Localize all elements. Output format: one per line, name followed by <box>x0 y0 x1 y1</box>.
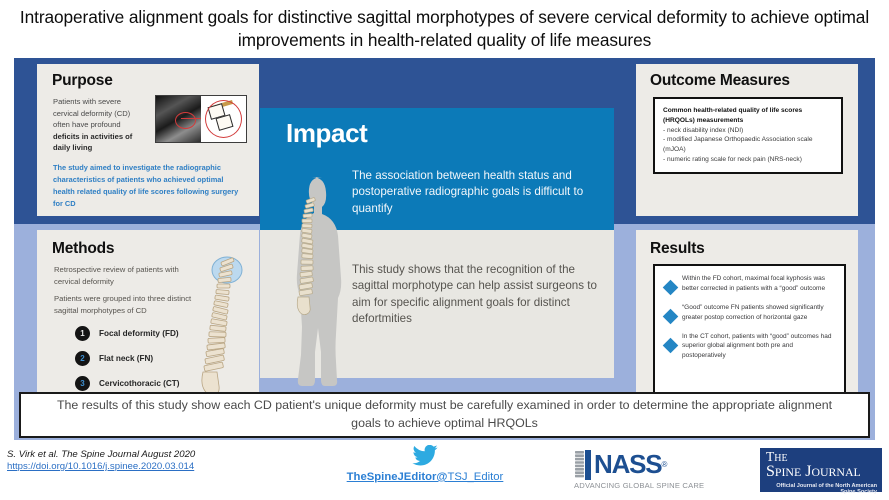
methods-heading: Methods <box>52 240 114 258</box>
outcome-item: - neck disability index (NDI) <box>663 126 833 136</box>
purpose-body-bold: deficits in activities of daily living <box>53 132 132 153</box>
list-item: 1 Focal deformity (FD) <box>75 326 180 341</box>
human-body-silhouette-with-spine <box>282 173 348 388</box>
list-item: 2 Flat neck (FN) <box>75 351 180 366</box>
prohibition-circle-icon <box>205 100 242 138</box>
cervical-radiograph-with-blocked-vertebrae-icon <box>155 95 247 143</box>
results-box: Within the FD cohort, maximal focal kyph… <box>653 264 846 404</box>
morphotype-label: Flat neck (FN) <box>99 354 153 363</box>
twitter-handle-rest: TSJ_Editor <box>447 471 503 483</box>
purpose-body: Patients with severe cervical deformity … <box>53 96 148 154</box>
citation-text: S. Virk et al. The Spine Journal August … <box>7 449 195 460</box>
blocked-vertebrae-icon <box>201 96 246 142</box>
number-badge-2: 2 <box>75 351 90 366</box>
purpose-body-plain: Patients with severe cervical deformity … <box>53 97 130 129</box>
list-item: In the CT cohort, patients with “good” o… <box>661 331 838 362</box>
nass-logo: NASS ® ADVANCING GLOBAL SPINE CARE <box>574 449 756 490</box>
purpose-aim: The study aimed to investigate the radio… <box>53 162 245 210</box>
outcome-item: - numeric rating scale for neck pain (NR… <box>663 155 833 165</box>
result-text: “Good” outcome FN patients showed signif… <box>682 302 838 323</box>
outcome-box: Common health-related quality of life sc… <box>653 97 843 174</box>
twitter-bird-icon <box>412 445 438 466</box>
title-text: Intraoperative alignment goals for disti… <box>18 6 871 52</box>
list-item: “Good” outcome FN patients showed signif… <box>661 302 838 323</box>
nass-tagline: ADVANCING GLOBAL SPINE CARE <box>574 481 756 490</box>
number-badge-3: 3 <box>75 376 90 391</box>
twitter-handle-bold: TheSpineJEditor@ <box>347 471 448 483</box>
outcome-box-title: Common health-related quality of life sc… <box>663 106 833 126</box>
citation-block: S. Virk et al. The Spine Journal August … <box>7 449 195 472</box>
impact-heading: Impact <box>286 118 367 149</box>
morphotype-list: 1 Focal deformity (FD) 2 Flat neck (FN) … <box>75 326 180 401</box>
conclusion-banner: The results of this study show each CD p… <box>19 392 870 438</box>
poster-body: Purpose Patients with severe cervical de… <box>14 58 875 440</box>
nass-logo-row: NASS ® <box>574 449 756 480</box>
page-title: Intraoperative alignment goals for disti… <box>0 0 889 58</box>
tsj-line-1: THE <box>766 450 877 464</box>
outcome-box-bold: Common health-related quality of life sc… <box>663 107 802 124</box>
sagittal-spine-column-illustration <box>193 252 249 404</box>
diamond-bullet-icon <box>663 280 679 296</box>
result-text: Within the FD cohort, maximal focal kyph… <box>682 273 838 294</box>
nass-registered-icon: ® <box>661 460 667 469</box>
tsj-caption: Official Journal of the North American S… <box>766 483 877 495</box>
purpose-panel: Purpose Patients with severe cervical de… <box>37 64 259 216</box>
list-item: Within the FD cohort, maximal focal kyph… <box>661 273 838 294</box>
diamond-bullet-icon <box>663 337 679 353</box>
outcome-heading: Outcome Measures <box>650 72 790 90</box>
twitter-block[interactable]: TheSpineJEditor@TSJ_Editor <box>300 445 550 485</box>
results-heading: Results <box>650 240 705 258</box>
methods-paragraph-1: Retrospective review of patients with ce… <box>54 264 194 287</box>
nass-wordmark: NASS <box>594 449 661 480</box>
result-text: In the CT cohort, patients with “good” o… <box>682 331 838 362</box>
impact-conclusion: This study shows that the recognition of… <box>352 262 602 328</box>
methods-paragraph-2: Patients were grouped into three distinc… <box>54 293 202 316</box>
nass-spine-icon <box>574 450 591 480</box>
doi-link[interactable]: https://doi.org/10.1016/j.spinee.2020.03… <box>7 461 195 472</box>
list-item: 3 Cervicothoracic (CT) <box>75 376 180 391</box>
diamond-bullet-icon <box>663 308 679 324</box>
footer: S. Virk et al. The Spine Journal August … <box>0 443 889 500</box>
twitter-handle[interactable]: TheSpineJEditor@TSJ_Editor <box>347 471 504 483</box>
radiograph-icon <box>156 96 201 142</box>
spine-journal-logo: THE SPINE JOURNAL Official Journal of th… <box>760 448 882 492</box>
outcome-item: - modified Japanese Orthopaedic Associat… <box>663 135 833 155</box>
tsj-line-2: SPINE JOURNAL <box>766 464 877 481</box>
purpose-heading: Purpose <box>52 72 113 90</box>
number-badge-1: 1 <box>75 326 90 341</box>
impact-statement: The association between health status an… <box>352 168 600 217</box>
morphotype-label: Focal deformity (FD) <box>99 329 179 338</box>
outcome-measures-panel: Outcome Measures Common health-related q… <box>636 64 858 216</box>
conclusion-text: The results of this study show each CD p… <box>47 397 842 432</box>
morphotype-label: Cervicothoracic (CT) <box>99 379 180 388</box>
